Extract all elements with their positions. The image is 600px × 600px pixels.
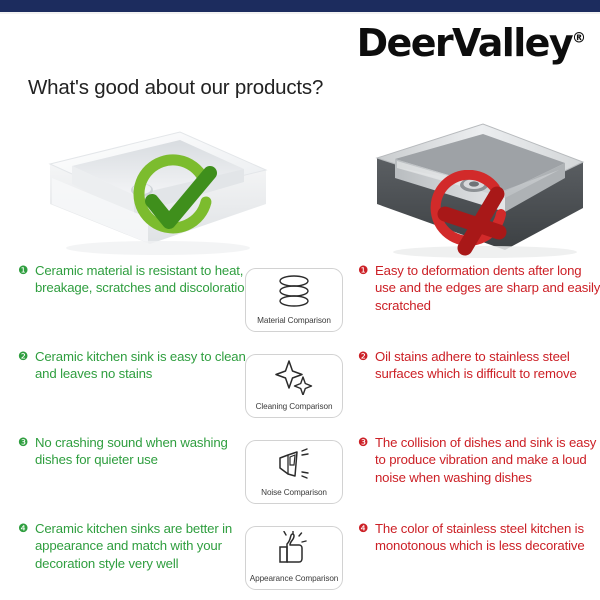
rejected-x-badge <box>425 170 521 266</box>
registered-trademark-icon: ® <box>572 30 586 46</box>
disadvantage-text-2: Oil stains adhere to stainless steel sur… <box>375 349 577 381</box>
infographic-page: DeerValley® What's good about our produc… <box>0 0 600 600</box>
sparkle-icon <box>246 359 342 395</box>
bullet-number-1: ❶ <box>18 262 28 279</box>
list-item: ❷ Oil stains adhere to stainless steel s… <box>358 348 600 383</box>
bullet-number-3: ❸ <box>18 434 28 451</box>
list-item: ❶ Easy to deformation dents after long u… <box>358 262 600 314</box>
page-title: What's good about our products? <box>28 76 323 100</box>
list-item: ❸ The collision of dishes and sink is ea… <box>358 434 600 486</box>
comparison-card-noise: Noise Comparison <box>245 440 343 504</box>
advantage-text-3: No crashing sound when washing dishes fo… <box>35 435 228 467</box>
x-mark-icon <box>425 170 521 266</box>
comparison-card-cleaning: Cleaning Comparison <box>245 354 343 418</box>
comparison-card-label: Appearance Comparison <box>246 574 342 583</box>
advantage-text-4: Ceramic kitchen sinks are better in appe… <box>35 521 232 571</box>
megaphone-icon <box>246 445 342 481</box>
comparison-card-label: Cleaning Comparison <box>246 402 342 411</box>
disadvantage-text-3: The collision of dishes and sink is easy… <box>375 435 596 485</box>
bullet-number-2: ❷ <box>18 348 28 365</box>
thumbs-up-icon <box>246 531 342 567</box>
top-accent-underline <box>0 12 600 14</box>
comparison-card-material: Material Comparison <box>245 268 343 332</box>
bullet-number-3: ❸ <box>358 434 368 451</box>
top-accent-bar <box>0 0 600 12</box>
bullet-number-4: ❹ <box>358 520 368 537</box>
comparison-card-label: Material Comparison <box>246 316 342 325</box>
approved-check-badge <box>124 152 220 248</box>
bullet-number-2: ❷ <box>358 348 368 365</box>
comparison-card-appearance: Appearance Comparison <box>245 526 343 590</box>
list-item: ❷ Ceramic kitchen sink is easy to clean … <box>18 348 263 383</box>
disadvantage-text-1: Easy to deformation dents after long use… <box>375 263 600 313</box>
list-item: ❸ No crashing sound when washing dishes … <box>18 434 263 469</box>
check-mark-icon <box>124 152 220 248</box>
advantage-text-1: Ceramic material is resistant to heat, b… <box>35 263 252 295</box>
brand-logo: DeerValley® <box>357 24 586 62</box>
bullet-number-1: ❶ <box>358 262 368 279</box>
list-item: ❹ The color of stainless steel kitchen i… <box>358 520 600 555</box>
brand-name: DeerValley <box>357 21 572 65</box>
comparison-card-label: Noise Comparison <box>246 488 342 497</box>
list-item: ❹ Ceramic kitchen sinks are better in ap… <box>18 520 263 572</box>
bullet-number-4: ❹ <box>18 520 28 537</box>
advantage-text-2: Ceramic kitchen sink is easy to clean an… <box>35 349 246 381</box>
list-item: ❶ Ceramic material is resistant to heat,… <box>18 262 263 297</box>
disadvantage-text-4: The color of stainless steel kitchen is … <box>375 521 585 553</box>
stacked-layers-icon <box>246 273 342 309</box>
